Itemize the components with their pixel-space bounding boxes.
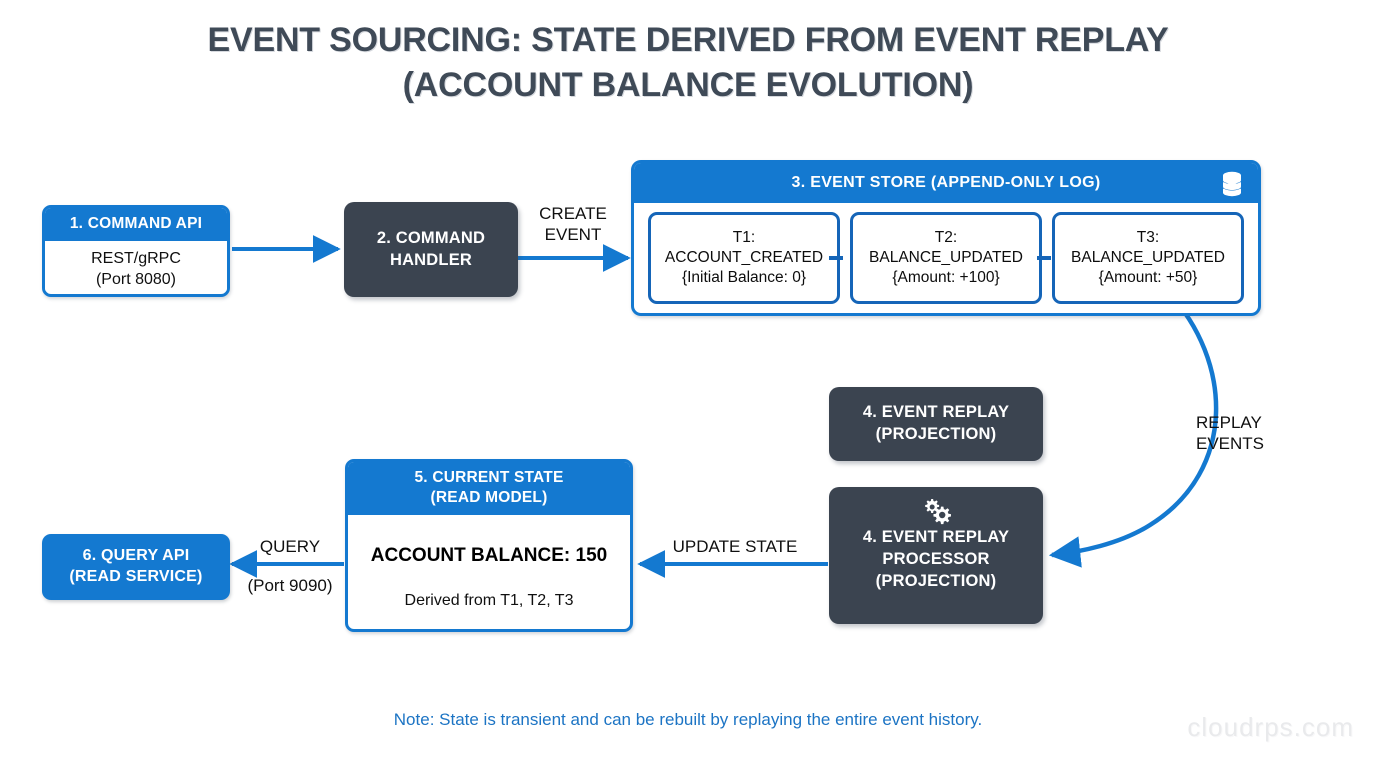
event-link-2-3 <box>1037 256 1051 260</box>
command-handler-line-2: HANDLER <box>390 250 472 272</box>
create-event-line-1: CREATE <box>512 203 634 224</box>
event-store-title: 3. EVENT STORE (APPEND-ONLY LOG) <box>792 174 1101 192</box>
event-card-t1-id: T1: <box>733 228 755 248</box>
edge-label-create-event: CREATE EVENT <box>512 203 634 246</box>
node-command-handler[interactable]: 2. COMMAND HANDLER <box>344 202 518 297</box>
query-api-line-2: (READ SERVICE) <box>69 567 202 588</box>
command-api-body-line-1: REST/gRPC <box>49 248 223 270</box>
watermark: cloudrps.com <box>1187 712 1354 743</box>
event-card-t3-type: BALANCE_UPDATED <box>1071 248 1225 268</box>
event-card-t1-type: ACCOUNT_CREATED <box>665 248 823 268</box>
database-icon <box>1220 171 1244 202</box>
query-api-line-1: 6. QUERY API <box>83 546 190 567</box>
edge-label-update-state: UPDATE STATE <box>650 536 820 557</box>
event-card-t2-id: T2: <box>935 228 957 248</box>
node-command-api[interactable]: 1. COMMAND API REST/gRPC (Port 8080) <box>42 205 230 297</box>
command-api-header: 1. COMMAND API <box>45 208 227 241</box>
node-event-replay[interactable]: 4. EVENT REPLAY (PROJECTION) <box>829 387 1043 461</box>
event-card-t2-payload: {Amount: +100} <box>892 268 999 288</box>
node-query-api[interactable]: 6. QUERY API (READ SERVICE) <box>42 534 230 600</box>
connector-layer <box>0 0 1376 768</box>
current-state-derived: Derived from T1, T2, T3 <box>348 590 630 612</box>
footer-note: Note: State is transient and can be rebu… <box>0 710 1376 730</box>
event-card-t3-payload: {Amount: +50} <box>1099 268 1198 288</box>
command-api-body-line-2: (Port 8080) <box>49 269 223 291</box>
edge-label-query-port: (Port 9090) <box>236 575 344 596</box>
query-line-1: QUERY <box>240 536 340 557</box>
event-replay-line-1: 4. EVENT REPLAY <box>863 402 1009 424</box>
query-line-2: (Port 9090) <box>236 575 344 596</box>
current-state-balance: ACCOUNT BALANCE: 150 <box>348 543 630 569</box>
gears-icon <box>919 498 953 524</box>
event-replay-processor-line-1: 4. EVENT REPLAY <box>863 527 1009 549</box>
event-card-t3[interactable]: T3: BALANCE_UPDATED {Amount: +50} <box>1052 212 1244 304</box>
current-state-header: 5. CURRENT STATE (READ MODEL) <box>348 462 630 515</box>
current-state-header-line-2: (READ MODEL) <box>354 488 624 508</box>
edge-label-replay-events: REPLAY EVENTS <box>1196 412 1316 455</box>
diagram-canvas: EVENT SOURCING: STATE DERIVED FROM EVENT… <box>0 0 1376 768</box>
node-event-replay-processor[interactable]: 4. EVENT REPLAY PROCESSOR (PROJECTION) <box>829 487 1043 624</box>
replay-events-line-1: REPLAY <box>1196 412 1316 433</box>
current-state-header-line-1: 5. CURRENT STATE <box>354 468 624 488</box>
event-card-t1-payload: {Initial Balance: 0} <box>682 268 806 288</box>
node-event-store[interactable]: 3. EVENT STORE (APPEND-ONLY LOG) T1: <box>631 160 1261 316</box>
replay-events-line-2: EVENTS <box>1196 433 1316 454</box>
create-event-line-2: EVENT <box>512 224 634 245</box>
curve-replay-events <box>1052 292 1216 555</box>
event-card-t2-type: BALANCE_UPDATED <box>869 248 1023 268</box>
event-replay-processor-line-3: (PROJECTION) <box>876 571 997 593</box>
edge-label-query: QUERY <box>240 536 340 557</box>
event-card-list: T1: ACCOUNT_CREATED {Initial Balance: 0}… <box>634 203 1258 313</box>
command-handler-line-1: 2. COMMAND <box>377 228 485 250</box>
event-store-header: 3. EVENT STORE (APPEND-ONLY LOG) <box>634 163 1258 203</box>
event-card-t2[interactable]: T2: BALANCE_UPDATED {Amount: +100} <box>850 212 1042 304</box>
node-current-state[interactable]: 5. CURRENT STATE (READ MODEL) ACCOUNT BA… <box>345 459 633 632</box>
event-card-t3-id: T3: <box>1137 228 1159 248</box>
event-replay-processor-line-2: PROCESSOR <box>882 549 989 571</box>
event-card-t1[interactable]: T1: ACCOUNT_CREATED {Initial Balance: 0} <box>648 212 840 304</box>
event-link-1-2 <box>829 256 843 260</box>
event-replay-line-2: (PROJECTION) <box>876 424 997 446</box>
